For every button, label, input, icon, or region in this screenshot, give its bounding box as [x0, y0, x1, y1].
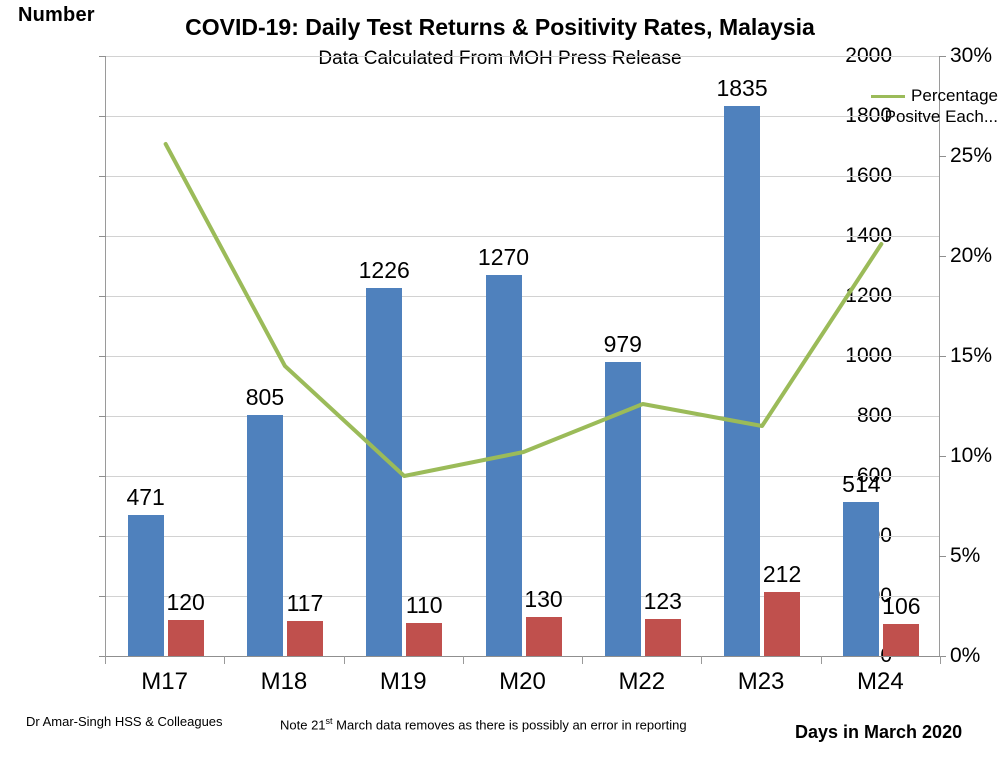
x-axis-tick-label: M18 [261, 668, 308, 696]
bar-value-label: 1835 [716, 75, 767, 102]
right-axis-tick-label: 5% [950, 544, 980, 568]
footer-author: Dr Amar-Singh HSS & Colleagues [26, 714, 223, 729]
legend-label-line2-row: Positve Each... [838, 106, 998, 127]
bar-value-label: 120 [166, 589, 204, 616]
bar-value-label: 1270 [478, 244, 529, 271]
left-axis-tick [99, 116, 106, 117]
right-axis-tick-label: 30% [950, 44, 992, 68]
bar-value-label: 123 [644, 588, 682, 615]
x-axis-title: Days in March 2020 [795, 722, 962, 743]
bar-value-label: 979 [604, 331, 642, 358]
right-axis-tick-label: 15% [950, 344, 992, 368]
left-axis-tick [99, 176, 106, 177]
line-series-percentage [106, 56, 941, 656]
gridline [106, 656, 939, 657]
left-axis-tick [99, 476, 106, 477]
x-axis-tick-label: M22 [618, 668, 665, 696]
x-axis-tick [105, 656, 106, 664]
x-axis-tick-label: M23 [738, 668, 785, 696]
x-axis-tick [701, 656, 702, 664]
bar-value-label: 117 [287, 590, 324, 617]
footer-note-superscript: st [326, 716, 333, 726]
left-axis-title: Number [18, 4, 95, 27]
x-axis-tick-label: M24 [857, 668, 904, 696]
chart-container: Number COVID-19: Daily Test Returns & Po… [0, 0, 1000, 761]
footer-note-pre: Note 21 [280, 717, 326, 732]
bar-value-label: 471 [126, 484, 164, 511]
x-axis-tick [821, 656, 822, 664]
bar-value-label: 1226 [359, 257, 410, 284]
x-axis-tick-label: M19 [380, 668, 427, 696]
right-axis-tick-label: 0% [950, 644, 980, 668]
x-axis-tick [344, 656, 345, 664]
legend-line-swatch-icon [871, 95, 905, 98]
left-axis-tick [99, 536, 106, 537]
plot-area: 4718051226127097918355141201171101301232… [105, 56, 940, 656]
x-axis-tick [463, 656, 464, 664]
x-axis-tick [582, 656, 583, 664]
left-axis-tick [99, 356, 106, 357]
right-axis-tick-label: 25% [950, 144, 992, 168]
legend-entry-percentage: Percentage [838, 85, 998, 106]
bar-value-label: 106 [882, 593, 920, 620]
bar-value-label: 212 [763, 561, 801, 588]
chart-title: COVID-19: Daily Test Returns & Positivit… [150, 14, 850, 41]
bar-value-label: 110 [406, 592, 443, 619]
footer-note: Note 21st March data removes as there is… [280, 716, 687, 732]
right-axis-tick-label: 20% [950, 244, 992, 268]
x-axis-tick-label: M17 [141, 668, 188, 696]
x-axis-tick [940, 656, 941, 664]
left-axis-tick [99, 416, 106, 417]
right-axis-tick-label: 10% [950, 444, 992, 468]
chart-legend: Percentage Positve Each... [838, 85, 998, 128]
footer-note-post: March data removes as there is possibly … [333, 717, 687, 732]
bar-value-label: 130 [524, 586, 562, 613]
bar-value-label: 805 [246, 384, 284, 411]
left-axis-tick [99, 56, 106, 57]
bar-value-label: 514 [842, 471, 880, 498]
legend-label-line1: Percentage [911, 86, 998, 105]
left-axis-tick [99, 596, 106, 597]
left-axis-tick [99, 236, 106, 237]
x-axis-tick-label: M20 [499, 668, 546, 696]
left-axis-tick [99, 296, 106, 297]
legend-label-line2: Positve Each... [885, 107, 998, 126]
x-axis-tick [224, 656, 225, 664]
